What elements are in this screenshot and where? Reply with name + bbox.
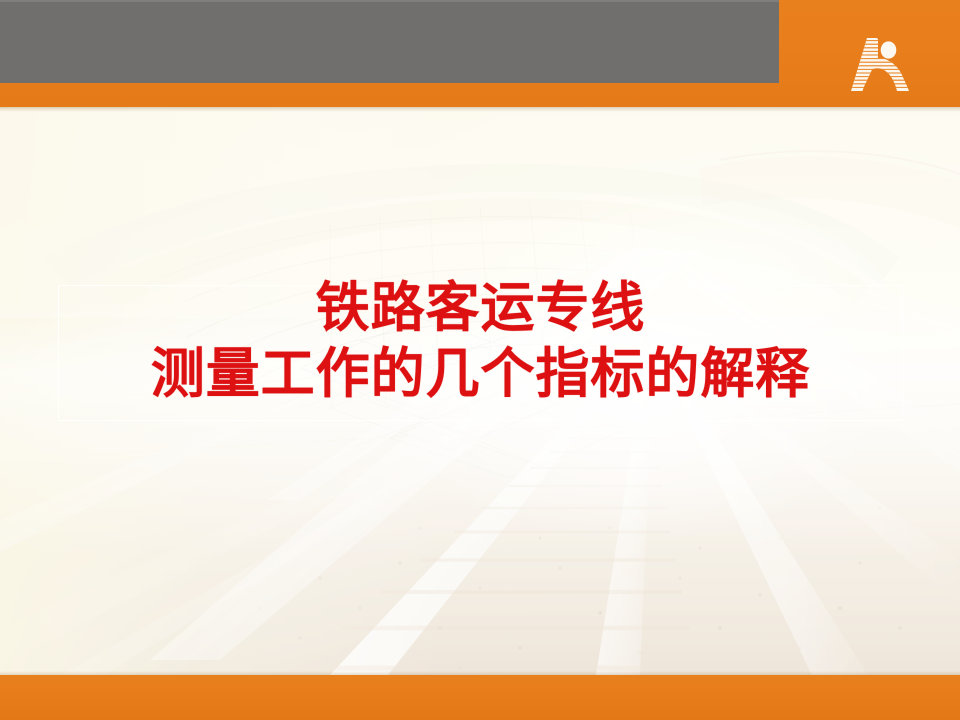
arch-stripes-logo-icon [842, 33, 918, 105]
title-line-1: 铁路客运专线 [316, 281, 646, 335]
slide-canvas: 铁路客运专线 测量工作的几个指标的解释 [0, 0, 960, 720]
page-title[interactable]: 铁路客运专线 测量工作的几个指标的解释 [58, 281, 903, 426]
footer-orange-bar [0, 675, 960, 720]
title-line-2: 测量工作的几个指标的解释 [151, 347, 811, 401]
header-gray-band [0, 0, 779, 83]
header-shadow [0, 107, 960, 112]
